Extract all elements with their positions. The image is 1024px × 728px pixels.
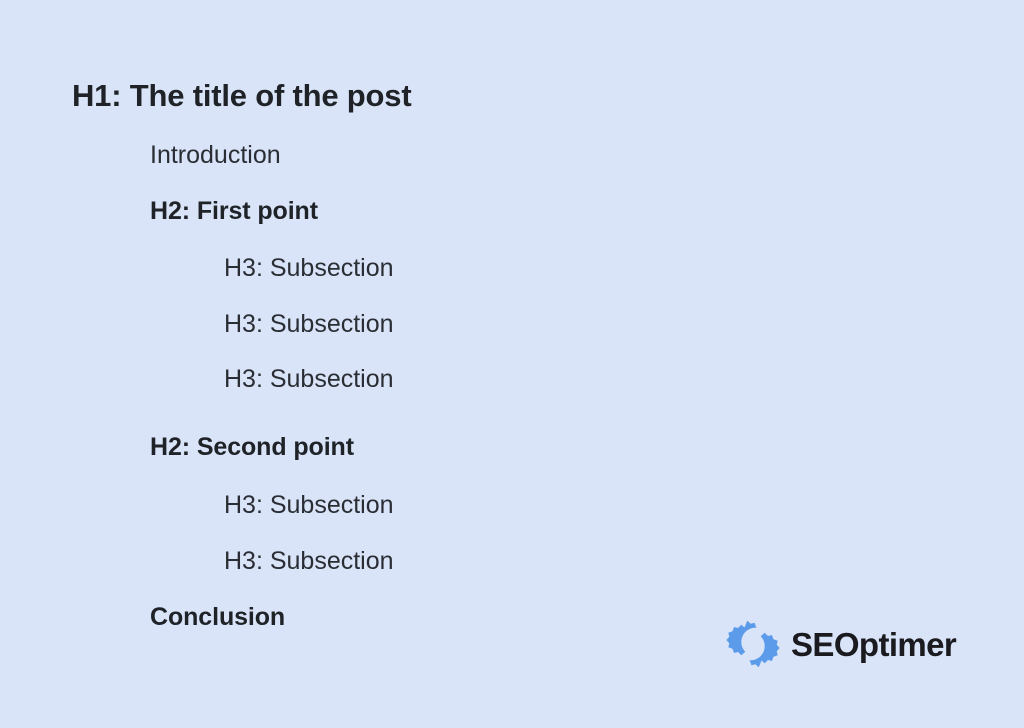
outline-item-h1-title: H1: The title of the post (72, 80, 411, 111)
outline-canvas: H1: The title of the post Introduction H… (0, 0, 1024, 728)
seoptimer-wordmark: SEOptimer (791, 628, 956, 661)
outline-item-conclusion: Conclusion (150, 605, 285, 630)
outline-item-h3-subsection: H3: Subsection (224, 256, 394, 281)
outline-item-h2-first-point: H2: First point (150, 199, 318, 224)
outline-item-h3-subsection: H3: Subsection (224, 493, 394, 518)
interlocking-gears-icon (726, 619, 780, 669)
outline-item-h3-subsection: H3: Subsection (224, 367, 394, 392)
outline-item-introduction: Introduction (150, 143, 281, 168)
outline-item-h2-second-point: H2: Second point (150, 435, 354, 460)
outline-item-h3-subsection: H3: Subsection (224, 312, 394, 337)
seoptimer-logo: SEOptimer (726, 618, 956, 670)
outline-item-h3-subsection: H3: Subsection (224, 549, 394, 574)
